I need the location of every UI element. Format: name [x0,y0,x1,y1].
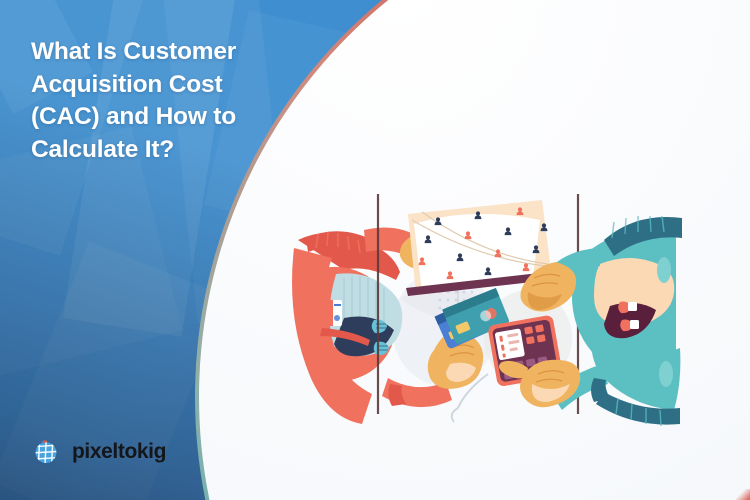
brand-logo[interactable]: pixeltokig [31,437,166,467]
globe-grid-icon [31,437,61,467]
brand-name: pixeltokig [72,440,166,464]
card-payment-illustration [292,178,682,428]
cover-card: What Is Customer Acquisition Cost (CAC) … [0,0,750,500]
corner-accent-mark [736,489,750,500]
page-title: What Is Customer Acquisition Cost (CAC) … [31,36,311,166]
